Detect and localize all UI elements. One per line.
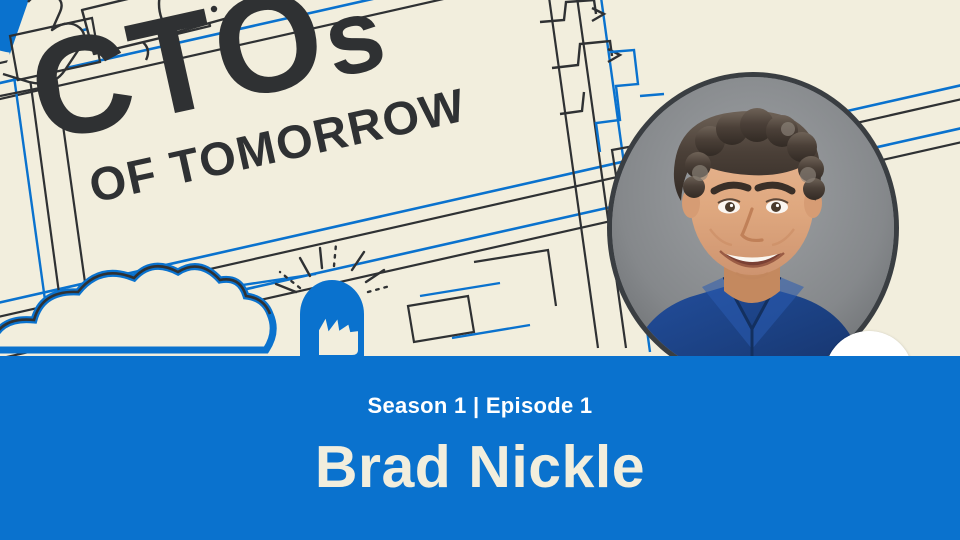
guest-name: Brad Nickle: [0, 433, 960, 501]
artwork-panel: CTOs OF TOMORROW: [0, 0, 960, 356]
episode-banner: Season 1 | Episode 1 Brad Nickle: [0, 356, 960, 540]
podcast-cover-slide: CTOs OF TOMORROW: [0, 0, 960, 540]
episode-line: Season 1 | Episode 1: [0, 393, 960, 419]
